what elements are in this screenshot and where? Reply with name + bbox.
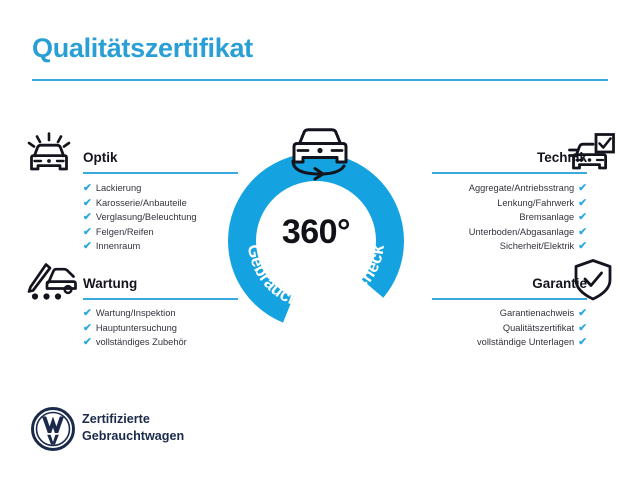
list-item-label: Karosserie/Anbauteile	[96, 198, 187, 208]
list-item-label: Lenkung/Fahrwerk	[497, 198, 574, 208]
list-item: ✔Wartung/Inspektion	[83, 306, 187, 321]
check-icon: ✔	[83, 211, 92, 223]
list-item: Bremsanlage✔	[469, 210, 587, 225]
list-item-label: Verglasung/Beleuchtung	[96, 212, 197, 222]
check-icon: ✔	[578, 336, 587, 348]
check-icon: ✔	[83, 197, 92, 209]
list-item: ✔Felgen/Reifen	[83, 225, 197, 240]
section-heading-optik: Optik	[83, 150, 118, 165]
check-icon: ✔	[578, 197, 587, 209]
list-item-label: vollständige Unterlagen	[477, 337, 574, 347]
check-icon: ✔	[83, 240, 92, 252]
list-item-label: Unterboden/Abgasanlage	[469, 227, 574, 237]
footer-line-2: Gebrauchtwagen	[82, 428, 184, 445]
check-icon: ✔	[578, 322, 587, 334]
check-icon: ✔	[83, 182, 92, 194]
list-item-label: Bremsanlage	[519, 212, 574, 222]
list-item: ✔vollständiges Zubehör	[83, 335, 187, 350]
list-item: Lenkung/Fahrwerk✔	[469, 196, 587, 211]
section-heading-technik: Technik	[537, 150, 587, 165]
check-icon: ✔	[578, 211, 587, 223]
badge-degrees: 360°	[228, 213, 404, 252]
list-item-label: Qualitätszertifikat	[503, 323, 574, 333]
check-icon: ✔	[578, 307, 587, 319]
check-icon: ✔	[83, 336, 92, 348]
page-title: Qualitätszertifikat	[32, 33, 253, 64]
list-item: ✔Innenraum	[83, 239, 197, 254]
list-item: ✔Verglasung/Beleuchtung	[83, 210, 197, 225]
list-item-label: Hauptuntersuchung	[96, 323, 177, 333]
list-item-label: Garantienachweis	[500, 308, 574, 318]
checklist-wartung: ✔Wartung/Inspektion ✔Hauptuntersuchung ✔…	[83, 306, 187, 350]
list-item: Sicherheit/Elektrik✔	[469, 239, 587, 254]
section-heading-garantie: Garantie	[532, 276, 587, 291]
list-item-label: Wartung/Inspektion	[96, 308, 176, 318]
section-divider-garantie	[432, 298, 587, 300]
list-item-label: Aggregate/Antriebsstrang	[469, 183, 574, 193]
section-divider-technik	[432, 172, 587, 174]
check-icon: ✔	[83, 226, 92, 238]
check-icon: ✔	[578, 182, 587, 194]
list-item: ✔Lackierung	[83, 181, 197, 196]
list-item-label: Sicherheit/Elektrik	[500, 241, 574, 251]
check-icon: ✔	[578, 226, 587, 238]
footer-line-1: Zertifizierte	[82, 411, 184, 428]
section-heading-wartung: Wartung	[83, 276, 137, 291]
section-divider-optik	[83, 172, 238, 174]
list-item-label: Lackierung	[96, 183, 141, 193]
list-item: Garantienachweis✔	[477, 306, 587, 321]
checklist-optik: ✔Lackierung ✔Karosserie/Anbauteile ✔Verg…	[83, 181, 197, 254]
check-icon: ✔	[83, 322, 92, 334]
title-divider	[32, 79, 608, 81]
list-item: Unterboden/Abgasanlage✔	[469, 225, 587, 240]
check-icon: ✔	[83, 307, 92, 319]
footer-brand-text: Zertifizierte Gebrauchtwagen	[82, 411, 184, 445]
section-divider-wartung	[83, 298, 238, 300]
car-front-rotate-icon	[281, 124, 359, 182]
list-item-label: Felgen/Reifen	[96, 227, 154, 237]
list-item: ✔Karosserie/Anbauteile	[83, 196, 197, 211]
list-item-label: vollständiges Zubehör	[96, 337, 187, 347]
car-front-shine-icon	[24, 132, 74, 176]
vw-logo	[30, 406, 76, 457]
checklist-garantie: Garantienachweis✔ Qualitätszertifikat✔ v…	[477, 306, 587, 350]
certificate-page: Qualitätszertifikat Optik ✔Lackierung ✔K…	[0, 0, 640, 480]
list-item: Qualitätszertifikat✔	[477, 321, 587, 336]
list-item: ✔Hauptuntersuchung	[83, 321, 187, 336]
list-item: Aggregate/Antriebsstrang✔	[469, 181, 587, 196]
car-lift-icon	[26, 258, 78, 302]
checklist-technik: Aggregate/Antriebsstrang✔ Lenkung/Fahrwe…	[469, 181, 587, 254]
check-icon: ✔	[578, 240, 587, 252]
list-item-label: Innenraum	[96, 241, 140, 251]
list-item: vollständige Unterlagen✔	[477, 335, 587, 350]
